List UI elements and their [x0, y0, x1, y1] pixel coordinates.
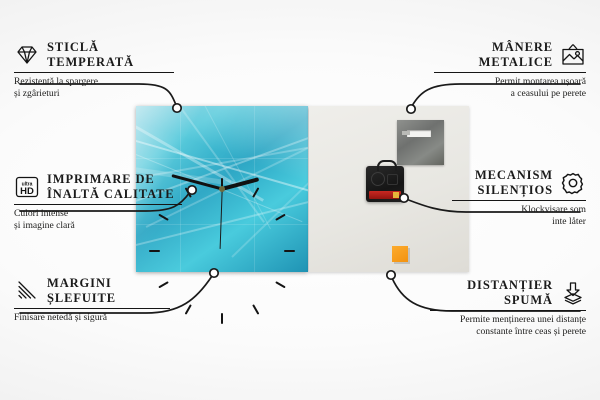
diamond-icon	[14, 43, 40, 67]
leader-endpoint-print	[188, 186, 196, 194]
hatched-corner-icon	[14, 279, 40, 303]
callout-title: IMPRIMARE DE ÎNALTĂ CALITATE	[47, 172, 175, 201]
leader-endpoint-foam	[387, 271, 395, 279]
leader-endpoint-glass	[173, 104, 181, 112]
leader-endpoint-hanger	[407, 105, 415, 113]
callout-description: Permit montarea ușoară a ceasului pe per…	[434, 76, 586, 99]
callout-title: DISTANȚIER SPUMĂ	[467, 278, 553, 307]
callout-title: STICLĂ TEMPERATĂ	[47, 40, 134, 69]
framed-picture-icon	[560, 43, 586, 67]
callout-rule	[14, 308, 170, 309]
callout-rule	[14, 72, 174, 73]
svg-text:HD: HD	[20, 186, 34, 197]
callout-high-quality-print: ultra HD IMPRIMARE DE ÎNALTĂ CALITATE Cu…	[14, 172, 182, 232]
callout-polished-edges: MARGINI ȘLEFUITE Finisare netedă și sigu…	[14, 276, 170, 324]
callout-description: Finisare netedă și sigură	[14, 312, 170, 324]
callout-tempered-glass: STICLĂ TEMPERATĂ Rezistentă la spargere …	[14, 40, 174, 100]
callout-description: Culori intense și imagine clară	[14, 208, 182, 231]
callout-rule	[430, 310, 586, 311]
infographic-canvas: STICLĂ TEMPERATĂ Rezistentă la spargere …	[0, 0, 600, 400]
callout-description: Permite menținerea unei distanțe constan…	[430, 314, 586, 337]
gear-icon	[560, 171, 586, 195]
leader-endpoint-edges	[210, 269, 218, 277]
callout-title: MARGINI ȘLEFUITE	[47, 276, 116, 305]
callout-rule	[434, 72, 586, 73]
callout-rule	[14, 204, 182, 205]
callout-description: Rezistentă la spargere și zgârieturi	[14, 76, 174, 99]
leader-endpoint-mechanism	[400, 194, 408, 202]
callout-description: Klockvisare som inte låter	[452, 204, 586, 227]
ultra-hd-icon: ultra HD	[14, 175, 40, 199]
callout-silent-mechanism: MECANISM SILENȚIOS Klockvisare som inte …	[452, 168, 586, 228]
callout-metal-hangers: MÂNERE METALICE Permit montarea ușoară a…	[434, 40, 586, 100]
arrow-onto-layers-icon	[560, 281, 586, 305]
callout-title: MECANISM SILENȚIOS	[475, 168, 553, 197]
callout-rule	[452, 200, 586, 201]
callout-title: MÂNERE METALICE	[479, 40, 553, 69]
callout-foam-spacer: DISTANȚIER SPUMĂ Permite menținerea unei…	[430, 278, 586, 338]
